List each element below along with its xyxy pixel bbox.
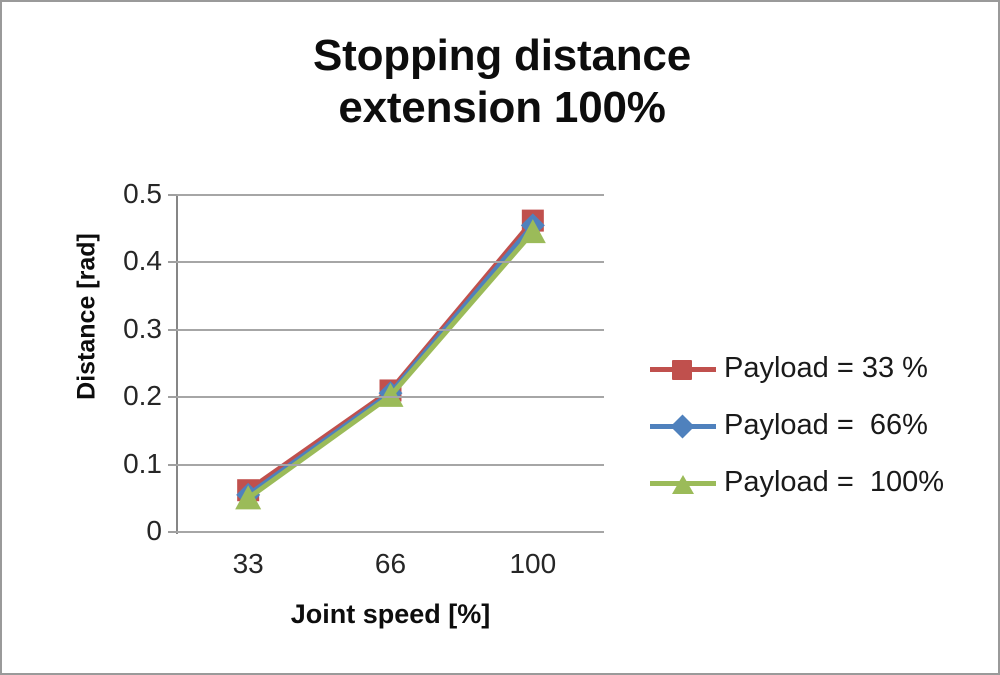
legend-item[interactable]: Payload = 33 % [650, 340, 990, 397]
x-axis-tick-label: 66 [331, 550, 451, 578]
gridline [177, 194, 604, 196]
y-axis-tick-label: 0.2 [102, 382, 162, 410]
gridline [177, 396, 604, 398]
legend-key-square-icon [650, 357, 716, 381]
x-axis-tick-label: 100 [473, 550, 593, 578]
gridline [177, 531, 604, 533]
legend-label: Payload = 66% [724, 411, 928, 440]
chart-title-line-2: extension 100% [2, 82, 1000, 134]
legend-key-triangle-icon [650, 471, 716, 495]
x-axis-tick-label: 33 [188, 550, 308, 578]
chart-title: Stopping distance extension 100% [2, 30, 1000, 134]
y-axis-tick-label: 0.3 [102, 315, 162, 343]
legend-item[interactable]: Payload = 100% [650, 454, 990, 511]
plot-area [177, 195, 604, 532]
series-line [248, 225, 533, 495]
legend-label: Payload = 100% [724, 468, 944, 497]
legend-key-diamond-icon [650, 414, 716, 438]
legend-item[interactable]: Payload = 66% [650, 397, 990, 454]
y-axis-tick-label: 0.1 [102, 450, 162, 478]
legend-label: Payload = 33 % [724, 354, 928, 383]
gridline [177, 464, 604, 466]
y-axis-tick-label: 0.4 [102, 247, 162, 275]
gridline [177, 261, 604, 263]
legend-key-marker [672, 360, 692, 380]
chart-frame: Stopping distance extension 100% Distanc… [0, 0, 1000, 675]
legend-key-marker [672, 475, 694, 494]
chart-title-line-1: Stopping distance [313, 31, 691, 80]
chart-legend: Payload = 33 %Payload = 66%Payload = 100… [650, 340, 990, 511]
gridline [177, 329, 604, 331]
y-axis-tick-label: 0 [102, 517, 162, 545]
series-square [237, 210, 544, 502]
y-axis-title: Distance [rad] [73, 207, 102, 427]
series-lines [177, 195, 604, 532]
legend-key-marker [670, 414, 694, 438]
y-axis-tick-label: 0.5 [102, 180, 162, 208]
x-axis-title: Joint speed [%] [177, 599, 604, 630]
